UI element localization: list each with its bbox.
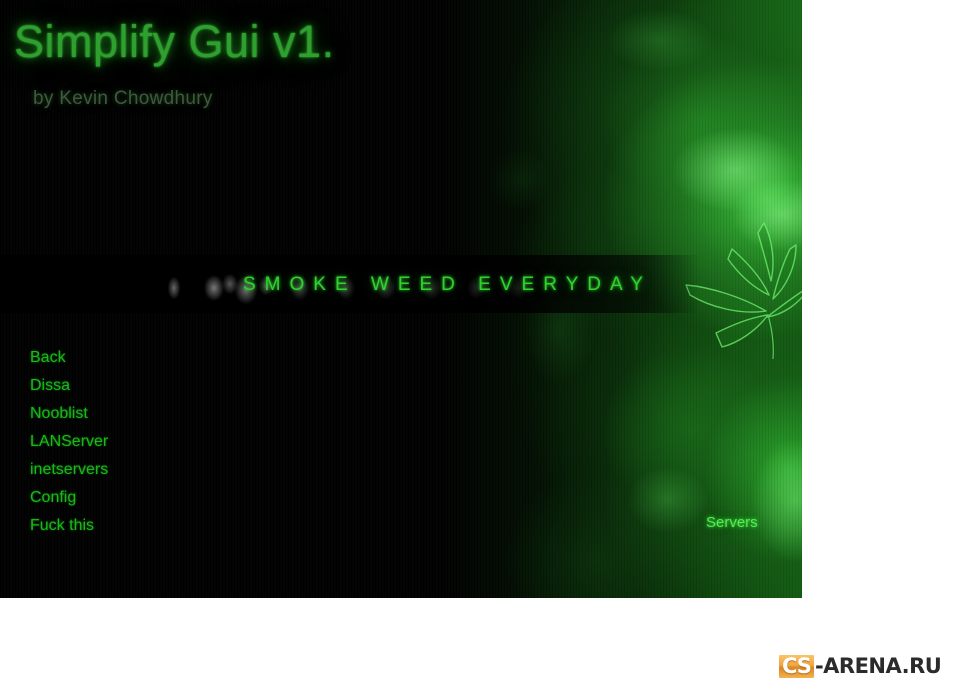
servers-button[interactable]: Servers [706,514,758,531]
menu-item-config[interactable]: Config [30,484,76,512]
main-menu: Back Dissa Nooblist LANServer inetserver… [30,344,108,540]
menu-item-lanserver[interactable]: LANServer [30,428,108,456]
menu-item-back[interactable]: Back [30,344,66,372]
banner-text: SMOKE WEED EVERYDAY [243,274,652,296]
game-screen: SMOKE WEED EVERYDAY Simplify Gui v1. by … [0,0,802,598]
app-title: Simplify Gui v1. [14,16,335,68]
menu-item-dissa[interactable]: Dissa [30,372,70,400]
menu-item-inetservers[interactable]: inetservers [30,456,108,484]
menu-item-fuck-this[interactable]: Fuck this [30,512,94,540]
cs-arena-watermark: CS-ARENA.RU [779,653,941,679]
watermark-domain: -ARENA.RU [815,656,941,676]
watermark-cs-mark: CS [779,655,814,678]
app-author: by Kevin Chowdhury [33,88,213,110]
menu-item-nooblist[interactable]: Nooblist [30,400,88,428]
